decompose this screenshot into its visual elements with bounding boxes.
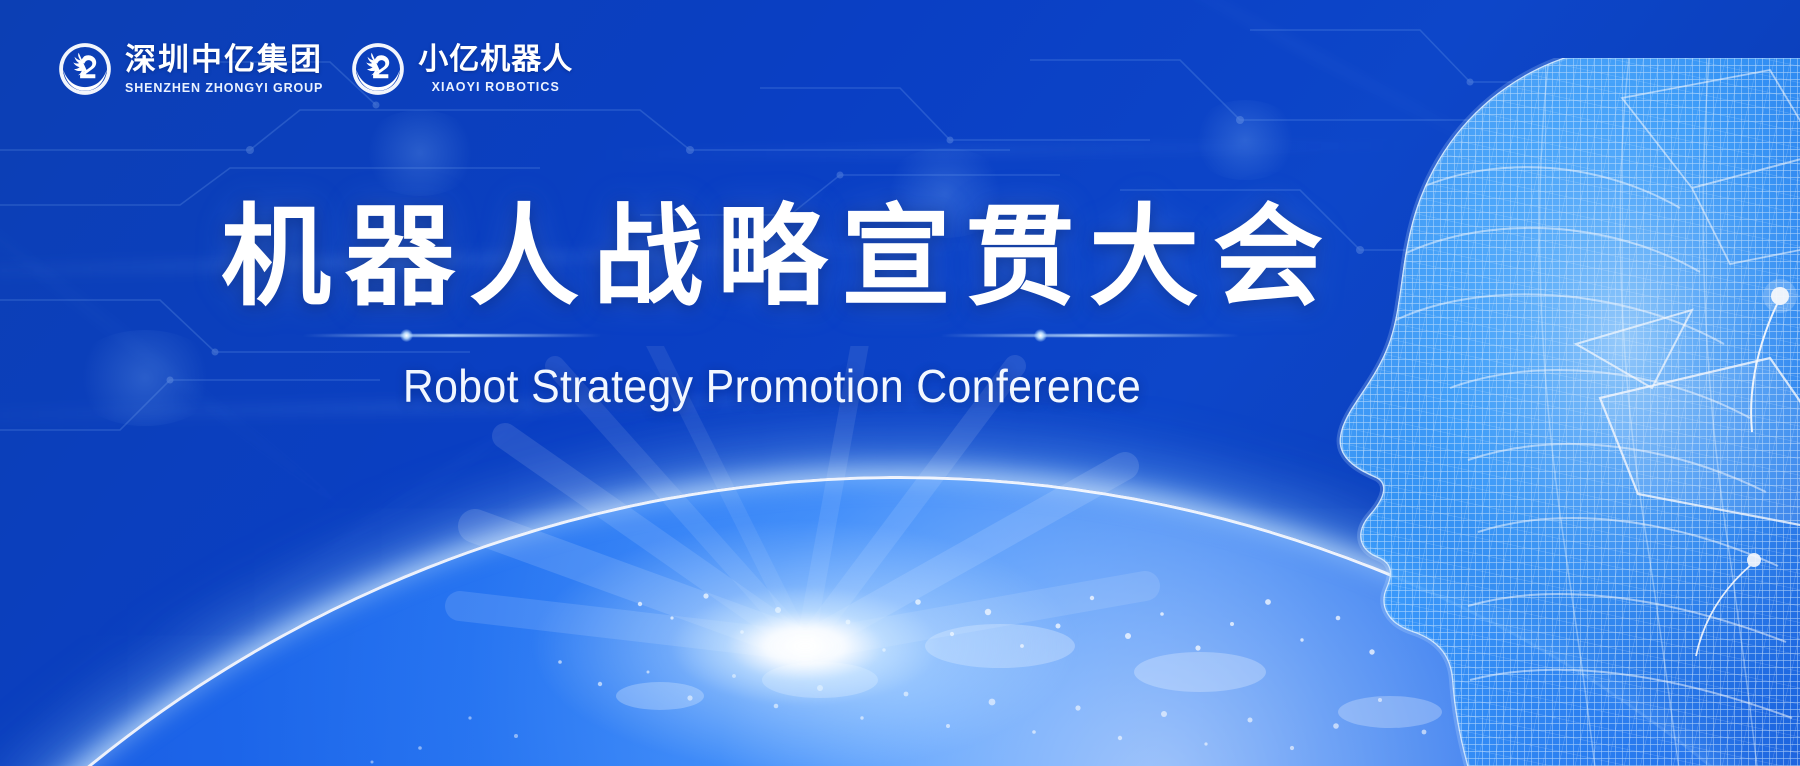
glow-dot-left	[400, 329, 413, 342]
glow-divider-icon	[0, 325, 1672, 347]
earth-atmosphere-rim	[0, 476, 1800, 766]
conference-banner: 深圳中亿集团 SHENZHEN ZHONGYI GROUP 小亿机器人 XIAO…	[0, 0, 1800, 766]
logo-en-name: XIAOYI ROBOTICS	[418, 80, 573, 94]
logo-xiaoyi-robotics[interactable]: 小亿机器人 XIAOYI ROBOTICS	[349, 40, 573, 98]
light-streak	[0, 388, 1170, 421]
circuit-node	[1190, 100, 1300, 180]
logo-cn-name: 小亿机器人	[418, 44, 573, 76]
logo-shenzhen-zhongyi-group[interactable]: 深圳中亿集团 SHENZHEN ZHONGYI GROUP	[56, 40, 323, 98]
sunrise-glow-icon	[425, 406, 1185, 766]
circuit-node	[880, 148, 1010, 238]
light-streak	[560, 141, 1460, 160]
glow-bar-right	[940, 334, 1240, 337]
light-streak	[0, 97, 422, 570]
light-streak	[171, 307, 689, 660]
light-streak	[1019, 0, 1640, 231]
earth-horizon-icon	[0, 346, 1800, 766]
glow-bar-left	[302, 334, 602, 337]
title-block: 机器人战略宣贯大会 Robot Strategy Promotion Confe…	[0, 196, 1800, 413]
wireframe-head-icon	[1300, 58, 1800, 766]
light-streak	[0, 242, 980, 279]
city-lights-speckle	[0, 436, 1800, 766]
logo-cn-name: 深圳中亿集团	[125, 43, 323, 76]
circuit-trace-icon	[0, 0, 1800, 766]
circuit-node	[70, 330, 220, 426]
logo-bar: 深圳中亿集团 SHENZHEN ZHONGYI GROUP 小亿机器人 XIAO…	[56, 40, 573, 98]
page-subtitle: Robot Strategy Promotion Conference	[0, 359, 1609, 413]
glow-dot-right	[1034, 329, 1047, 342]
logo-en-name: SHENZHEN ZHONGYI GROUP	[125, 81, 323, 95]
page-title: 机器人战略宣贯大会	[0, 196, 1672, 319]
circuit-node	[360, 110, 480, 196]
earth-sphere	[0, 478, 1800, 766]
sunrise-rays-icon	[305, 346, 1305, 766]
xiaoyi-brush-emblem-icon	[349, 40, 407, 98]
zhongyi-brush-emblem-icon	[56, 40, 114, 98]
head-outline-glow	[1340, 58, 1600, 766]
